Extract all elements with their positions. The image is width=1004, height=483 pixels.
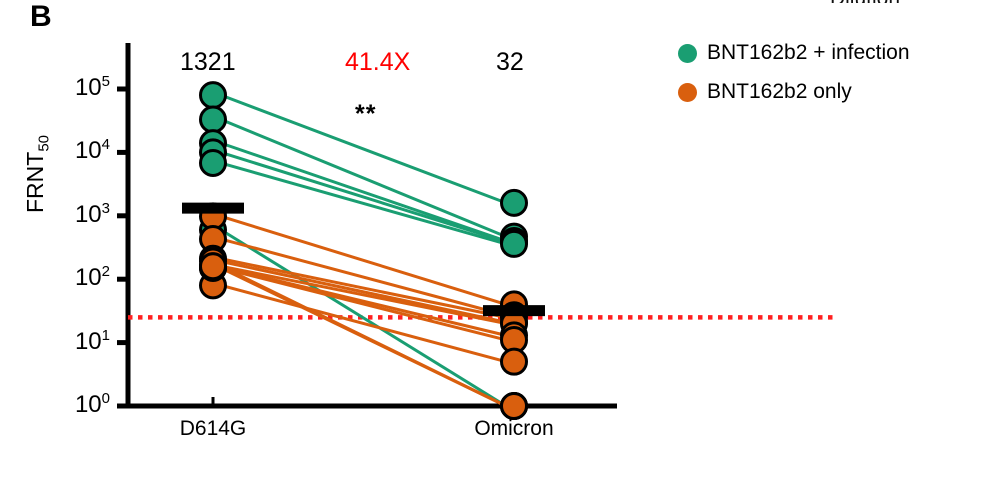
y-tick-exponent: 2	[102, 263, 110, 280]
x-axis-tick-label-d614g: D614G	[133, 418, 293, 440]
y-tick-exponent: 0	[102, 390, 110, 407]
y-axis-tick-label: 104	[40, 139, 110, 163]
data-point-marker	[502, 190, 527, 215]
data-point-marker	[502, 349, 527, 374]
y-axis-tick-label: 102	[40, 266, 110, 290]
y-tick-exponent: 3	[102, 200, 110, 217]
paired-connector-line	[221, 230, 506, 406]
legend-item-0: BNT162b2 + infection	[678, 38, 910, 68]
y-tick-exponent: 4	[102, 136, 110, 153]
geometric-mean-label-d614g: 1321	[180, 49, 236, 75]
y-axis-tick-label: 105	[40, 76, 110, 100]
data-point-marker	[201, 151, 226, 176]
data-point-marker	[201, 83, 226, 108]
paired-connector-line	[221, 163, 506, 244]
significance-asterisks: **	[355, 100, 376, 129]
legend-item-1: BNT162b2 only	[678, 77, 910, 107]
paired-connector-line	[221, 285, 506, 361]
y-tick-exponent: 5	[102, 73, 110, 90]
filled-circle-icon	[678, 83, 697, 102]
data-point-marker	[502, 231, 527, 256]
y-axis-tick-label: 100	[40, 393, 110, 417]
x-axis-tick-label-omicron: Omicron	[434, 418, 594, 440]
paired-connector-line	[221, 143, 506, 241]
figure-panel-b: B Dilution 1321 41.4X 32 ** FRNT50 10010…	[0, 0, 1004, 483]
geometric-mean-label-omicron: 32	[496, 49, 524, 75]
filled-circle-icon	[678, 44, 697, 63]
paired-connector-line	[221, 266, 506, 323]
paired-connector-line	[221, 120, 506, 237]
legend: BNT162b2 + infection BNT162b2 only	[678, 38, 910, 116]
y-tick-exponent: 1	[102, 327, 110, 344]
legend-item-label: BNT162b2 + infection	[707, 41, 910, 65]
y-axis-tick-label: 101	[40, 330, 110, 354]
data-point-marker	[502, 394, 527, 419]
data-point-marker	[201, 254, 226, 279]
data-point-marker	[201, 107, 226, 132]
y-axis-tick-label: 103	[40, 203, 110, 227]
legend-item-label: BNT162b2 only	[707, 80, 852, 104]
fold-change-label: 41.4X	[345, 49, 410, 75]
